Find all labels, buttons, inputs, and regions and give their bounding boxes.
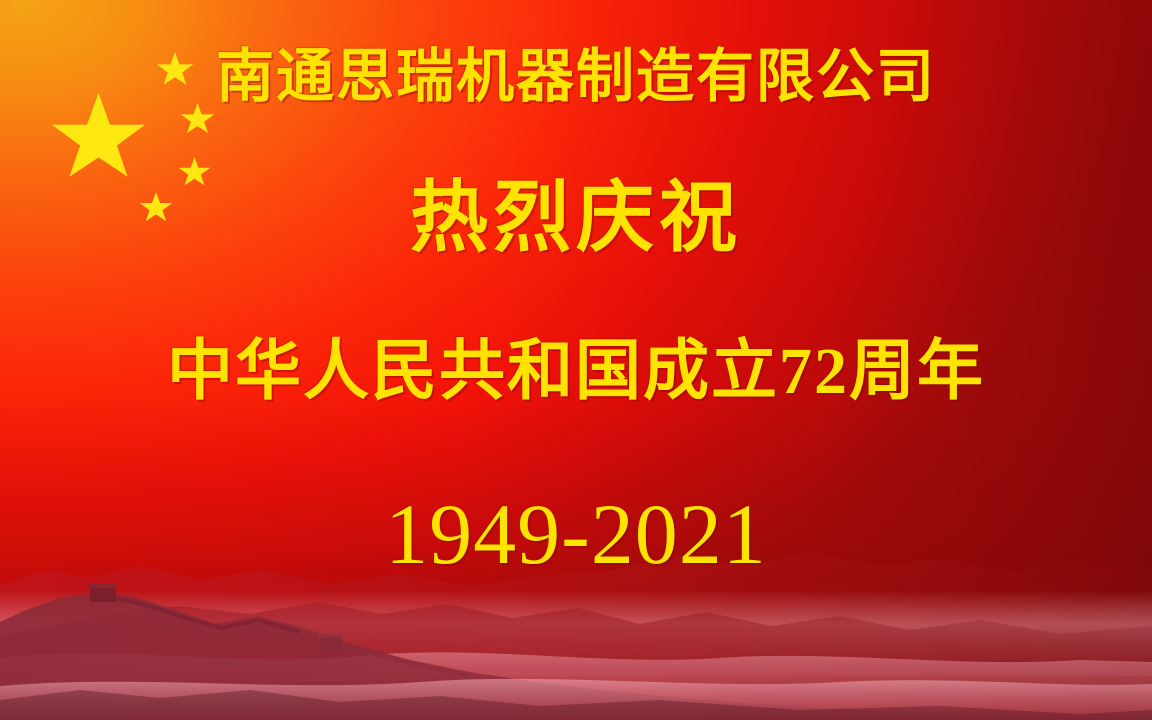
celebration-banner: 南通思瑞机器制造有限公司 热烈庆祝 中华人民共和国成立72周年 1949-202… xyxy=(0,0,1152,720)
celebrate-headline: 热烈庆祝 xyxy=(0,172,1152,264)
anniversary-text: 中华人民共和国成立72周年 xyxy=(0,332,1152,412)
year-range: 1949-2021 xyxy=(0,484,1152,584)
company-name: 南通思瑞机器制造有限公司 xyxy=(0,44,1152,110)
banner-text-layer: 南通思瑞机器制造有限公司 热烈庆祝 中华人民共和国成立72周年 1949-202… xyxy=(0,0,1152,720)
